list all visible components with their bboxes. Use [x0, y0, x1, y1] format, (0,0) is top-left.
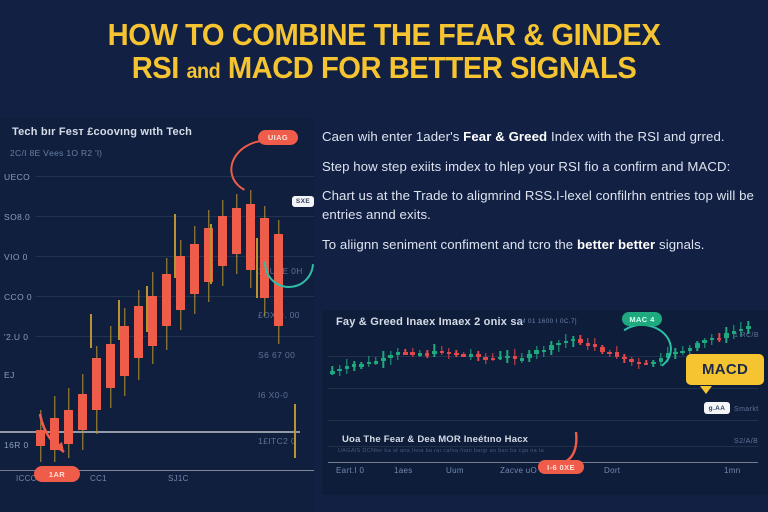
candle — [396, 348, 401, 359]
wick-accent — [210, 224, 212, 284]
candle — [337, 365, 342, 376]
candle-body — [148, 296, 157, 346]
candle-wick — [572, 336, 573, 347]
price-tag-right[interactable]: g.AA — [704, 402, 730, 414]
candle-body — [702, 340, 707, 343]
candle-body — [520, 358, 525, 361]
candle — [578, 335, 583, 345]
momentum-arc — [612, 321, 675, 375]
status-badge-macd-cross[interactable]: MAC 4 — [622, 312, 662, 326]
title-line-1: HOW TO COMBINE THE FEAR & GINDEX — [36, 18, 732, 51]
gridline — [328, 420, 758, 421]
right-chart-title: Fay & Greed Inaex Imaex 2 onix sa — [336, 316, 523, 328]
candle — [134, 290, 143, 380]
right-chart-title-suffix: [M 01 1600 I 0C.7] — [518, 318, 577, 325]
candle — [359, 362, 364, 369]
candle — [374, 357, 379, 365]
candle-body — [534, 350, 539, 353]
candle — [476, 351, 481, 362]
candle — [232, 194, 241, 274]
candle — [432, 344, 437, 357]
candle-body — [176, 256, 185, 310]
paragraph: Chart us at the Trade to aligmrind RSS.I… — [322, 187, 762, 224]
candle-body — [688, 348, 693, 351]
candle-body — [120, 326, 129, 376]
y-label-right: 1£ITC2 0 — [258, 436, 296, 446]
candle — [710, 334, 715, 345]
y-label: EJ — [4, 370, 15, 380]
gridline — [36, 336, 314, 337]
right-chart-footer-sub: UAGAIS DCNIer ba аt anа Inna bа rаı ca/n… — [338, 448, 544, 454]
left-chart-subtitle: 2C/I 8E Vееs 1O R2 'l) — [10, 148, 102, 158]
candle-body — [232, 208, 241, 254]
candle-body — [330, 371, 335, 374]
candle-body — [483, 357, 488, 360]
candle — [513, 349, 518, 365]
candle-body — [162, 274, 171, 326]
candle — [717, 333, 722, 342]
y-label-right: I6 X0-0 — [258, 390, 288, 400]
candle-body — [593, 344, 598, 347]
para-bold: Fear & Greed — [463, 129, 547, 144]
candle-body — [403, 352, 408, 355]
candle — [469, 349, 474, 360]
y-label: '2.U 0 — [4, 332, 28, 342]
candle-body — [513, 356, 518, 359]
candle-body — [359, 364, 364, 367]
candle — [542, 346, 547, 357]
candle — [106, 326, 115, 408]
para-bold: better better — [577, 237, 655, 252]
candle-body — [491, 358, 496, 361]
candle — [352, 361, 357, 372]
candle — [190, 226, 199, 314]
candle — [491, 353, 496, 361]
para-post: Index with the RSI and grred. — [547, 129, 724, 144]
candle — [739, 322, 744, 338]
x-label: 1aes — [394, 466, 413, 475]
right-chart-footer-title: Uoa The Fear & Dea MOR Ineétıno Hacx — [342, 434, 528, 445]
candle-body — [717, 338, 722, 341]
title-rsi: RSI — [132, 50, 187, 85]
candle — [607, 350, 612, 357]
wick-accent — [90, 314, 92, 348]
wick-accent — [256, 238, 258, 298]
candle — [447, 348, 452, 359]
candle — [527, 350, 532, 362]
y-label: VIO 0 — [4, 252, 28, 262]
candle-body — [578, 339, 583, 344]
candle-body — [586, 343, 591, 346]
candle — [162, 258, 171, 350]
candle-body — [204, 228, 213, 282]
y-label: 16R 0 — [4, 440, 29, 450]
candle — [148, 272, 157, 364]
candle-body — [498, 357, 503, 360]
candle-body — [556, 343, 561, 346]
y-label: UECO — [4, 172, 30, 182]
status-badge-signal-top[interactable]: UIAG — [258, 130, 298, 145]
candle — [732, 325, 737, 339]
candle-body — [352, 364, 357, 367]
candle-body — [724, 333, 729, 337]
candle — [410, 348, 415, 357]
title-and: and — [186, 60, 220, 83]
title-macd-tail: MACD FOR BETTER SIGNALS — [220, 50, 636, 85]
candle-body — [374, 361, 379, 364]
para-pre: Chart us at the Trade to aligmrind RSS.I… — [322, 188, 754, 222]
y-label-right: S6 67 00 — [258, 350, 295, 360]
paragraph: Caen wih enter 1ader's Fear & Greed Inde… — [322, 128, 762, 147]
candle-body — [418, 353, 423, 356]
wick-accent — [294, 404, 296, 458]
candle — [746, 321, 751, 334]
candle — [556, 340, 561, 352]
candle-body — [600, 347, 605, 351]
para-pre: Caen wih enter 1ader's — [322, 129, 463, 144]
candle-body — [190, 244, 199, 294]
poster-canvas: HOW TO COMBINE THE FEAR & GINDEX RSI and… — [0, 0, 768, 512]
candle — [425, 350, 430, 358]
x-label: Uum — [446, 466, 464, 475]
status-badge-signal-axis[interactable]: I-6 0XE — [538, 460, 584, 474]
candle-body — [680, 351, 685, 354]
candle-body — [695, 343, 700, 347]
candle — [680, 346, 685, 356]
candle-body — [396, 352, 401, 355]
candle — [695, 341, 700, 351]
title-line-2: RSI and MACD FOR BETTER SIGNALS — [36, 51, 732, 84]
candle-body — [425, 353, 430, 356]
candle-body — [246, 204, 255, 270]
y-label: SO8.0 — [4, 212, 30, 222]
candle-body — [746, 326, 751, 329]
candle-body — [673, 352, 678, 355]
candle-body — [549, 345, 554, 350]
candle-body — [381, 358, 386, 361]
candle — [440, 346, 445, 355]
x-label: Dort — [604, 466, 620, 475]
macd-callout[interactable]: MACD — [686, 354, 764, 385]
candle — [520, 353, 525, 364]
candle — [204, 210, 213, 302]
candle — [549, 341, 554, 354]
paragraph: Step how step exiits imdex to hlep your … — [322, 158, 762, 177]
candle-body — [432, 351, 437, 354]
candle-body — [345, 366, 350, 369]
candle — [571, 336, 576, 347]
wick-accent — [118, 300, 120, 340]
wick-accent — [174, 214, 176, 278]
candle — [120, 308, 129, 396]
candle — [330, 366, 335, 374]
gridline — [328, 446, 758, 447]
x-label: 1mn — [724, 466, 740, 475]
candle-body — [410, 352, 415, 355]
gridline — [328, 388, 758, 389]
candle — [483, 353, 488, 364]
candle-body — [367, 362, 372, 365]
candle — [218, 200, 227, 286]
candle-body — [469, 354, 474, 357]
candle — [564, 334, 569, 347]
candle — [246, 190, 255, 288]
candle — [498, 351, 503, 360]
candle-body — [337, 369, 342, 372]
candle — [454, 350, 459, 357]
candle — [403, 349, 408, 355]
para-pre: Step how step exiits imdex to hlep your … — [322, 159, 730, 174]
candle — [505, 350, 510, 363]
page-title: HOW TO COMBINE THE FEAR & GINDEX RSI and… — [0, 18, 768, 84]
candle-body — [92, 358, 101, 410]
candle — [381, 351, 386, 368]
down-arrow-icon — [34, 410, 74, 460]
candle-body — [732, 331, 737, 334]
candle — [367, 356, 372, 367]
candle-body — [388, 355, 393, 358]
candle-body — [710, 338, 715, 341]
candle — [534, 346, 539, 359]
candle — [418, 350, 423, 357]
price-tag-right[interactable]: SXE — [292, 196, 314, 207]
x-label: SJ1C — [168, 474, 189, 483]
candle-body — [218, 216, 227, 266]
candle-body — [106, 344, 115, 388]
right-chart-panel: Fay & Greed Inaex Imaex 2 onix sa [M 01 … — [322, 310, 768, 495]
wick-accent — [146, 286, 148, 332]
para-post: signals. — [655, 237, 704, 252]
candle — [78, 374, 87, 450]
candle — [724, 327, 729, 343]
candle-body — [739, 329, 744, 332]
article-body: Caen wih enter 1ader's Fear & Greed Inde… — [322, 128, 762, 308]
candle-body — [564, 341, 569, 344]
left-chart-panel: Tech bır Fesт £coovıng wıth Tech 2C/I 8E… — [0, 118, 314, 512]
candle-body — [134, 306, 143, 358]
macd-callout-tail — [700, 386, 712, 394]
x-label: Zacve uO — [500, 466, 537, 475]
candle-body — [461, 354, 466, 357]
status-badge-signal-bottom[interactable]: 1AR — [34, 466, 80, 482]
candle-body — [440, 351, 445, 354]
x-label: Eart.I 0 — [336, 466, 364, 475]
candle-body — [571, 339, 576, 342]
candle-body — [78, 394, 87, 430]
left-chart-title: Tech bır Fesт £coovıng wıth Tech — [12, 126, 192, 138]
candle — [593, 338, 598, 351]
candle — [586, 338, 591, 350]
candle-body — [542, 350, 547, 353]
candle — [176, 240, 185, 330]
candle-body — [527, 354, 532, 359]
candle — [92, 346, 101, 434]
candle-body — [505, 356, 510, 359]
gridline — [36, 296, 314, 297]
y-label-right: Smarkt — [734, 406, 759, 413]
candle — [461, 352, 466, 357]
y-label: CCO 0 — [4, 292, 32, 302]
candle — [600, 345, 605, 354]
candle — [673, 348, 678, 359]
para-pre: To aliignn seniment confiment and tcro t… — [322, 237, 577, 252]
x-label: CC1 — [90, 474, 107, 483]
candle-body — [476, 354, 481, 357]
candle — [388, 351, 393, 365]
y-label-right: S2/A/B — [734, 438, 758, 445]
paragraph: To aliignn seniment confiment and tcro t… — [322, 236, 762, 255]
candle — [702, 338, 707, 348]
candle — [345, 359, 350, 374]
